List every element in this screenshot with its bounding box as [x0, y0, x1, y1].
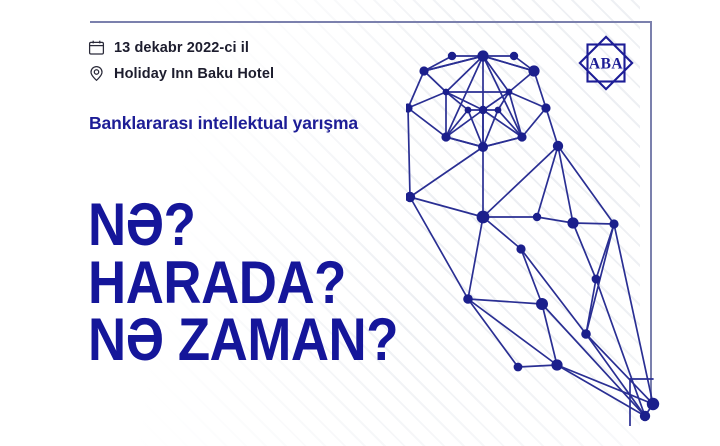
event-subtitle: Banklararası intellektual yarışma: [89, 113, 358, 134]
frame-rule-top: [90, 21, 652, 23]
event-venue-text: Holiday Inn Baku Hotel: [114, 66, 274, 82]
poster-canvas: ABA 13 dekabr 2022-ci il Holiday Inn Bak…: [0, 0, 720, 446]
aba-logo: ABA: [578, 35, 634, 91]
aba-logo-text: ABA: [589, 55, 624, 72]
event-venue: Holiday Inn Baku Hotel: [88, 65, 274, 82]
headline-line-2: HARADA?: [88, 254, 398, 312]
headline-line-3: NƏ ZAMAN?: [88, 311, 398, 369]
owl-edges: [408, 56, 653, 426]
location-pin-icon: [88, 65, 105, 82]
event-date-text: 13 dekabr 2022-ci il: [114, 40, 249, 56]
event-date: 13 dekabr 2022-ci il: [88, 39, 249, 56]
headline-line-1: NƏ?: [88, 196, 398, 254]
headline-block: NƏ? HARADA? NƏ ZAMAN?: [88, 196, 440, 369]
calendar-icon: [88, 39, 105, 56]
owl-network-illustration: [406, 34, 662, 426]
